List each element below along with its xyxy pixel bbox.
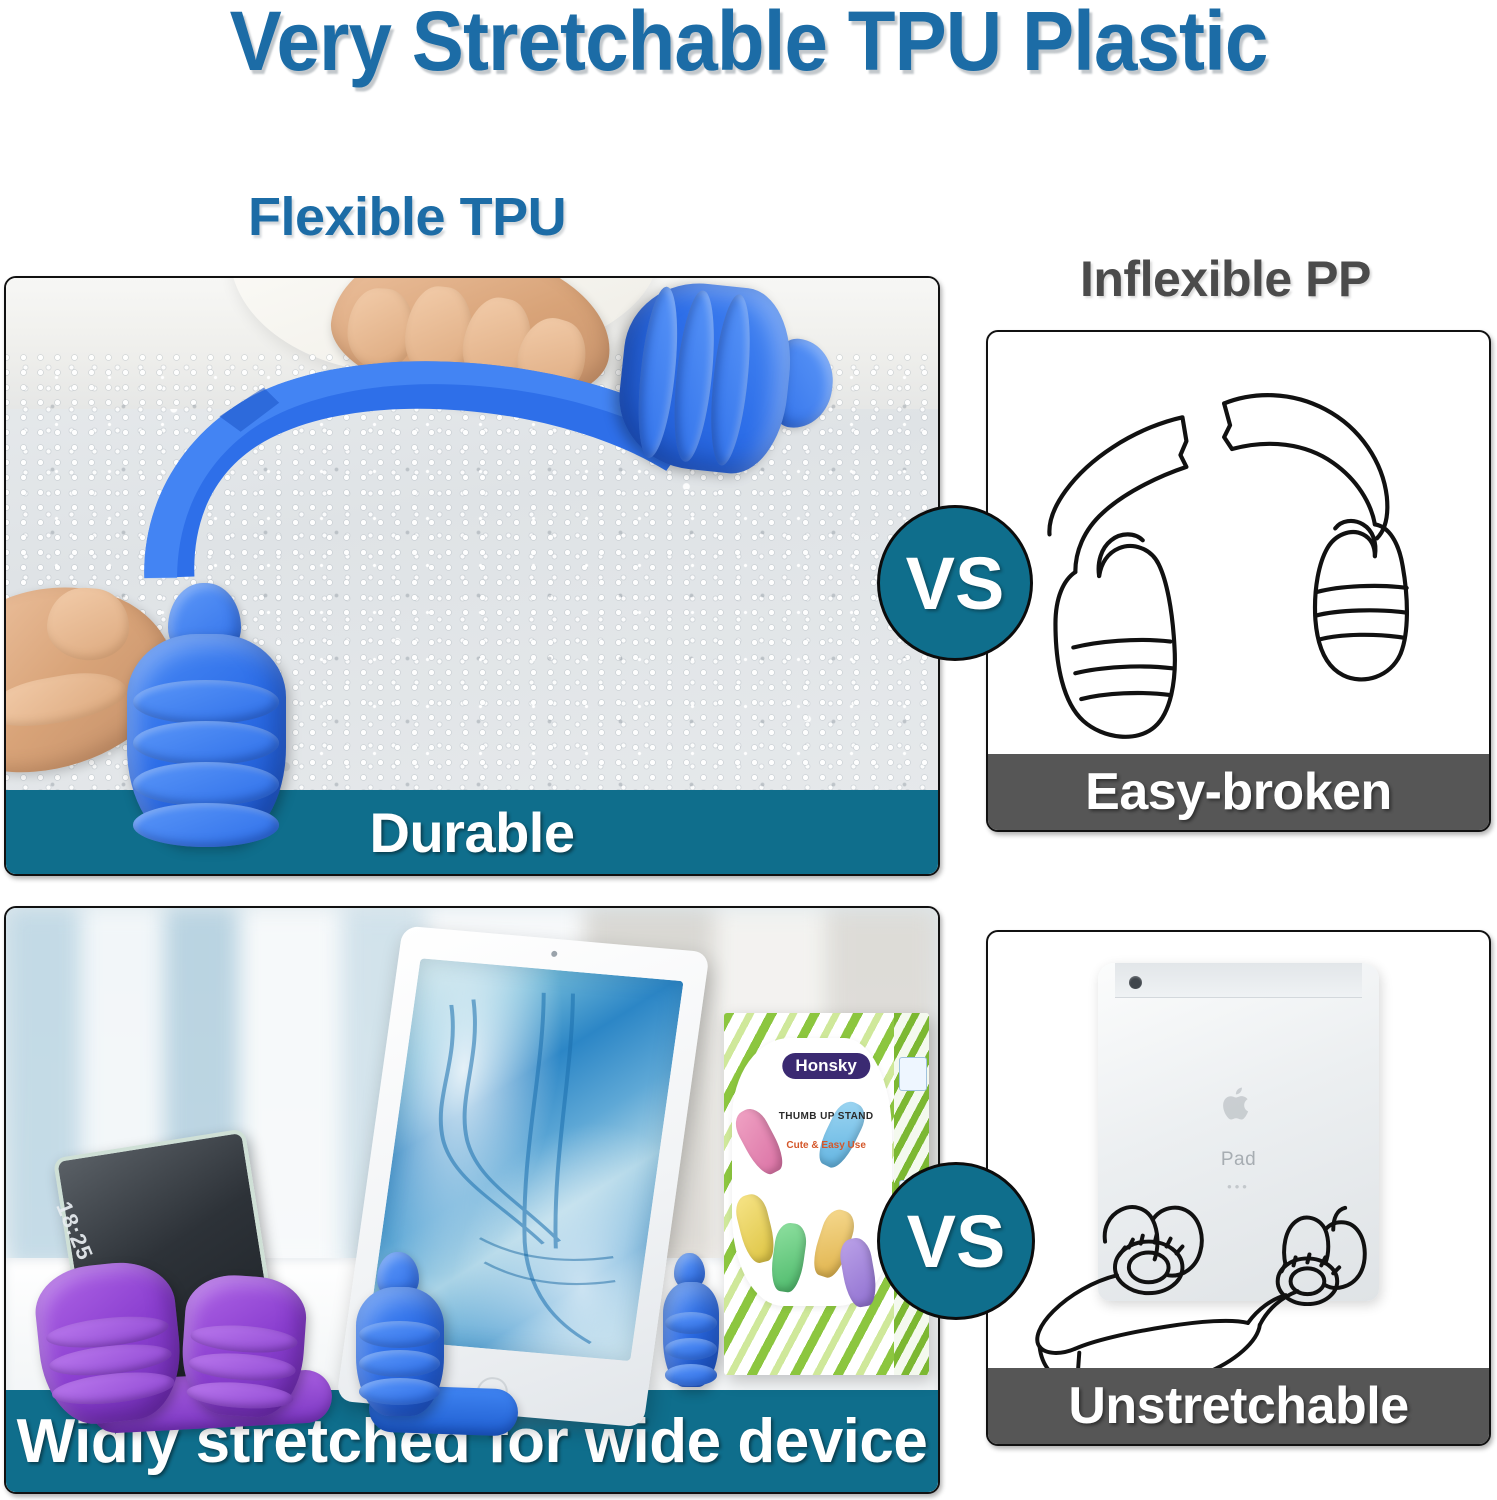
caption-easy-broken: Easy-broken xyxy=(988,754,1489,830)
box-tagline: Cute & Easy Use xyxy=(786,1140,865,1151)
panel-flexible-tpu-durable: Durable xyxy=(4,276,940,876)
infographic-canvas: Very Stretchable TPU Plastic Flexible TP… xyxy=(0,0,1497,1500)
purple-thumb-stand-right xyxy=(178,1272,309,1420)
tablet-camera xyxy=(551,951,558,957)
page-title: Very Stretchable TPU Plastic xyxy=(52,0,1444,88)
stretched-tpu-band xyxy=(127,350,705,588)
panel-unstretchable: Pad ••• xyxy=(986,930,1491,1446)
blue-thumb-stand-lower xyxy=(127,588,285,844)
vs-badge-top: VS xyxy=(877,505,1033,661)
blue-thumb-stand-left xyxy=(356,1258,445,1416)
blue-thumb-stand-upper xyxy=(613,276,834,483)
box-product-name: THUMB UP STAND xyxy=(779,1111,874,1122)
flexible-tpu-label: Flexible TPU xyxy=(248,186,566,248)
box-brand-name: Honsky xyxy=(782,1053,869,1079)
panel-widly-stretched: 18:25 xyxy=(4,906,940,1494)
blue-thumb-stand-right xyxy=(663,1258,719,1386)
panel-inflexible-pp-broken: Easy-broken xyxy=(986,330,1491,832)
purple-thumb-stand-left xyxy=(31,1257,187,1428)
vs-badge-bottom: VS xyxy=(877,1162,1035,1320)
inflexible-pp-label: Inflexible PP xyxy=(1080,250,1371,308)
caption-unstretchable: Unstretchable xyxy=(988,1368,1489,1444)
